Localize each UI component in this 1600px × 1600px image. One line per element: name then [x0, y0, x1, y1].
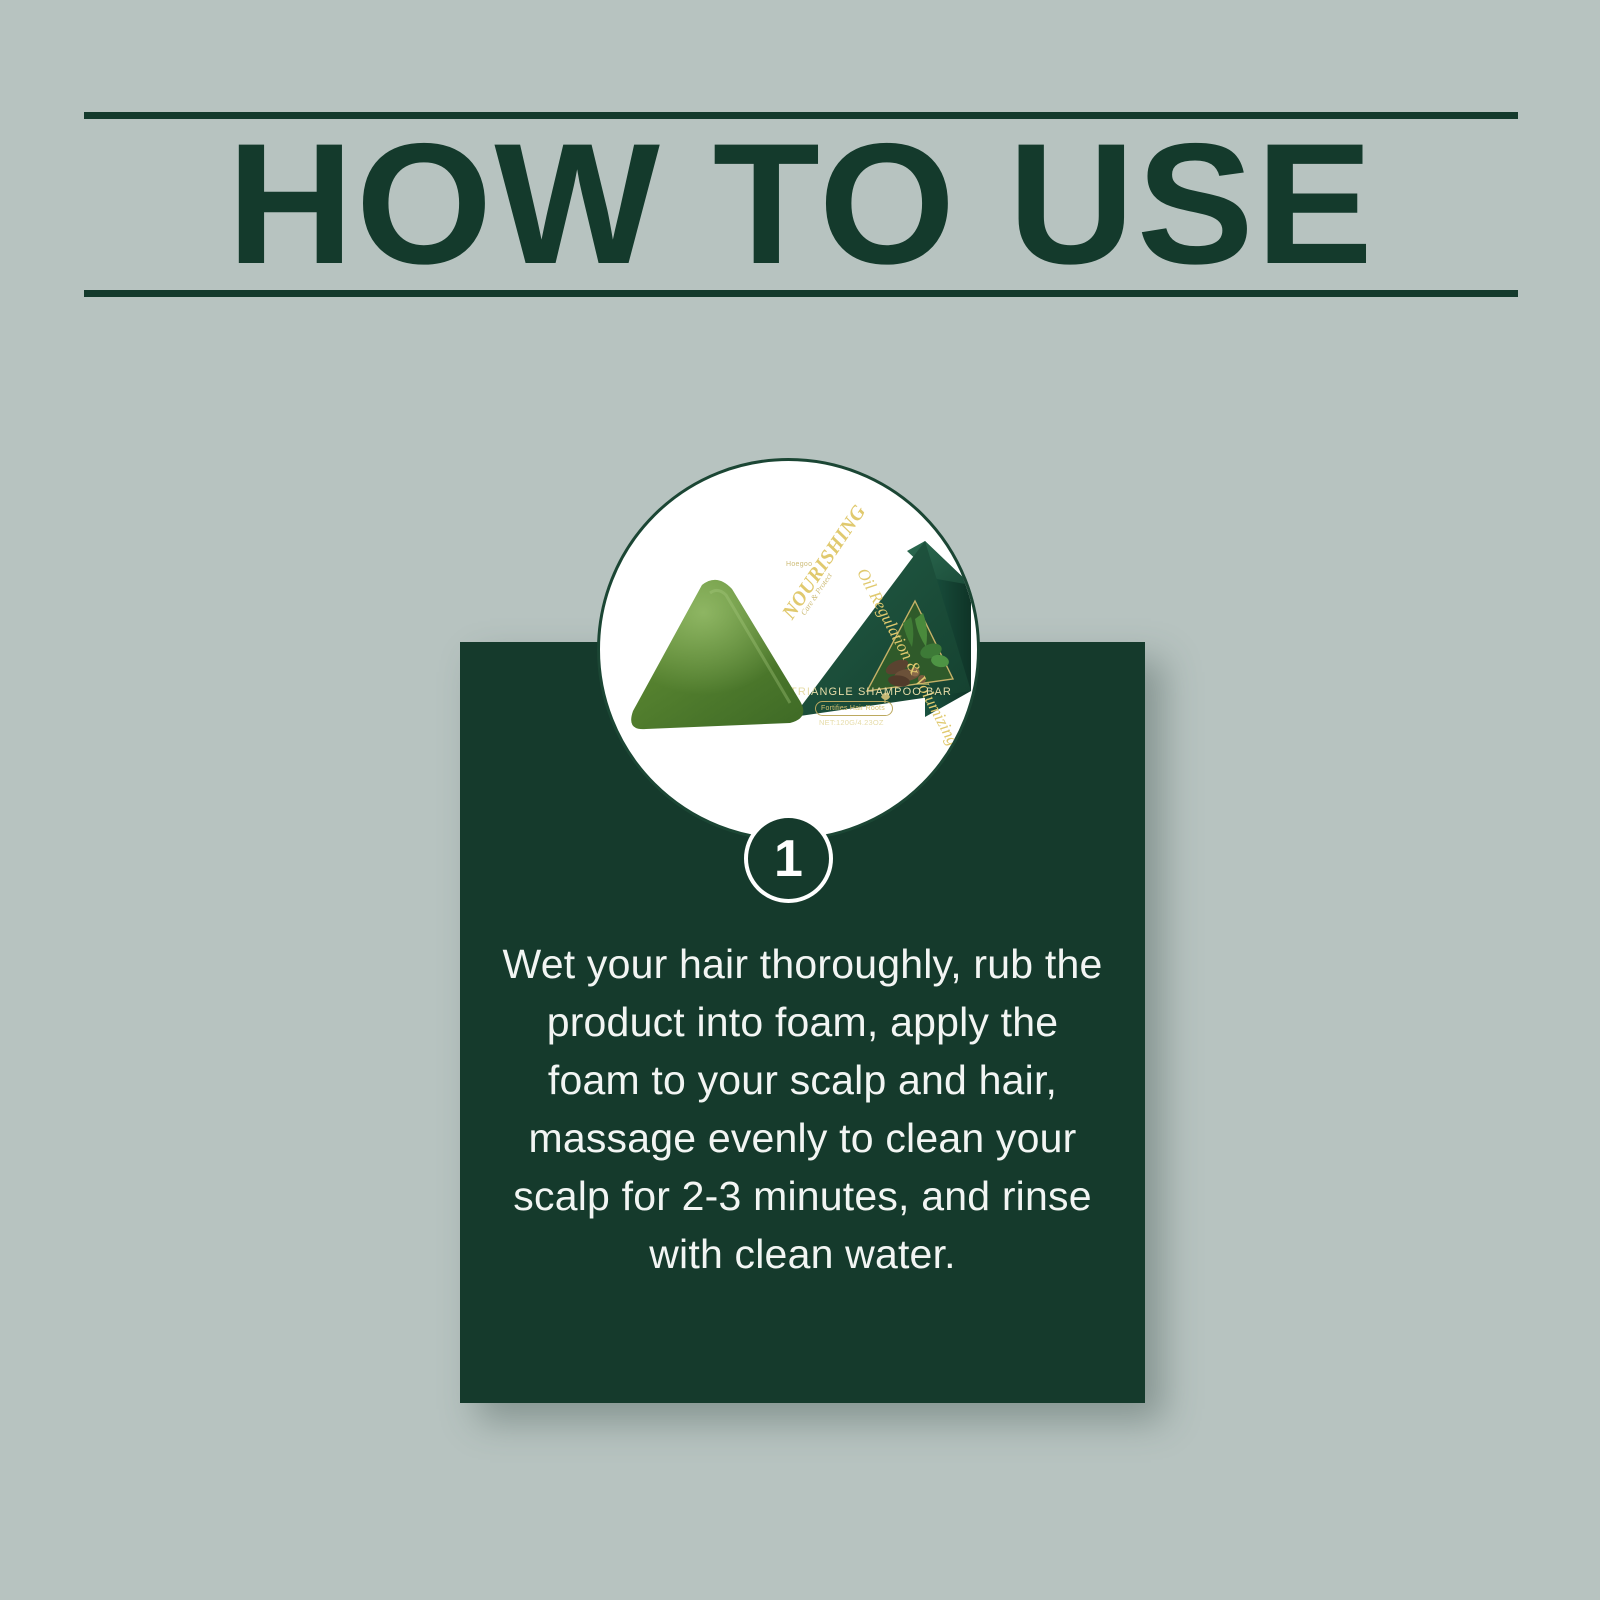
poster-canvas: HOW TO USE Wet your hair thoroughly, rub… [0, 0, 1600, 1600]
product-photo: Hoegoo NOURISHING Care & Protect Oil Reg… [600, 461, 977, 838]
package-claim-badge [815, 701, 893, 716]
step-number-badge: 1 [744, 814, 833, 903]
page-title: HOW TO USE [70, 118, 1533, 290]
page-header: HOW TO USE [84, 112, 1518, 302]
soap-bar-icon [624, 573, 810, 735]
header-rule-bottom [84, 290, 1518, 297]
step-description: Wet your hair thoroughly, rub the produc… [500, 935, 1105, 1283]
product-photo-circle: Hoegoo NOURISHING Care & Protect Oil Reg… [597, 458, 980, 841]
